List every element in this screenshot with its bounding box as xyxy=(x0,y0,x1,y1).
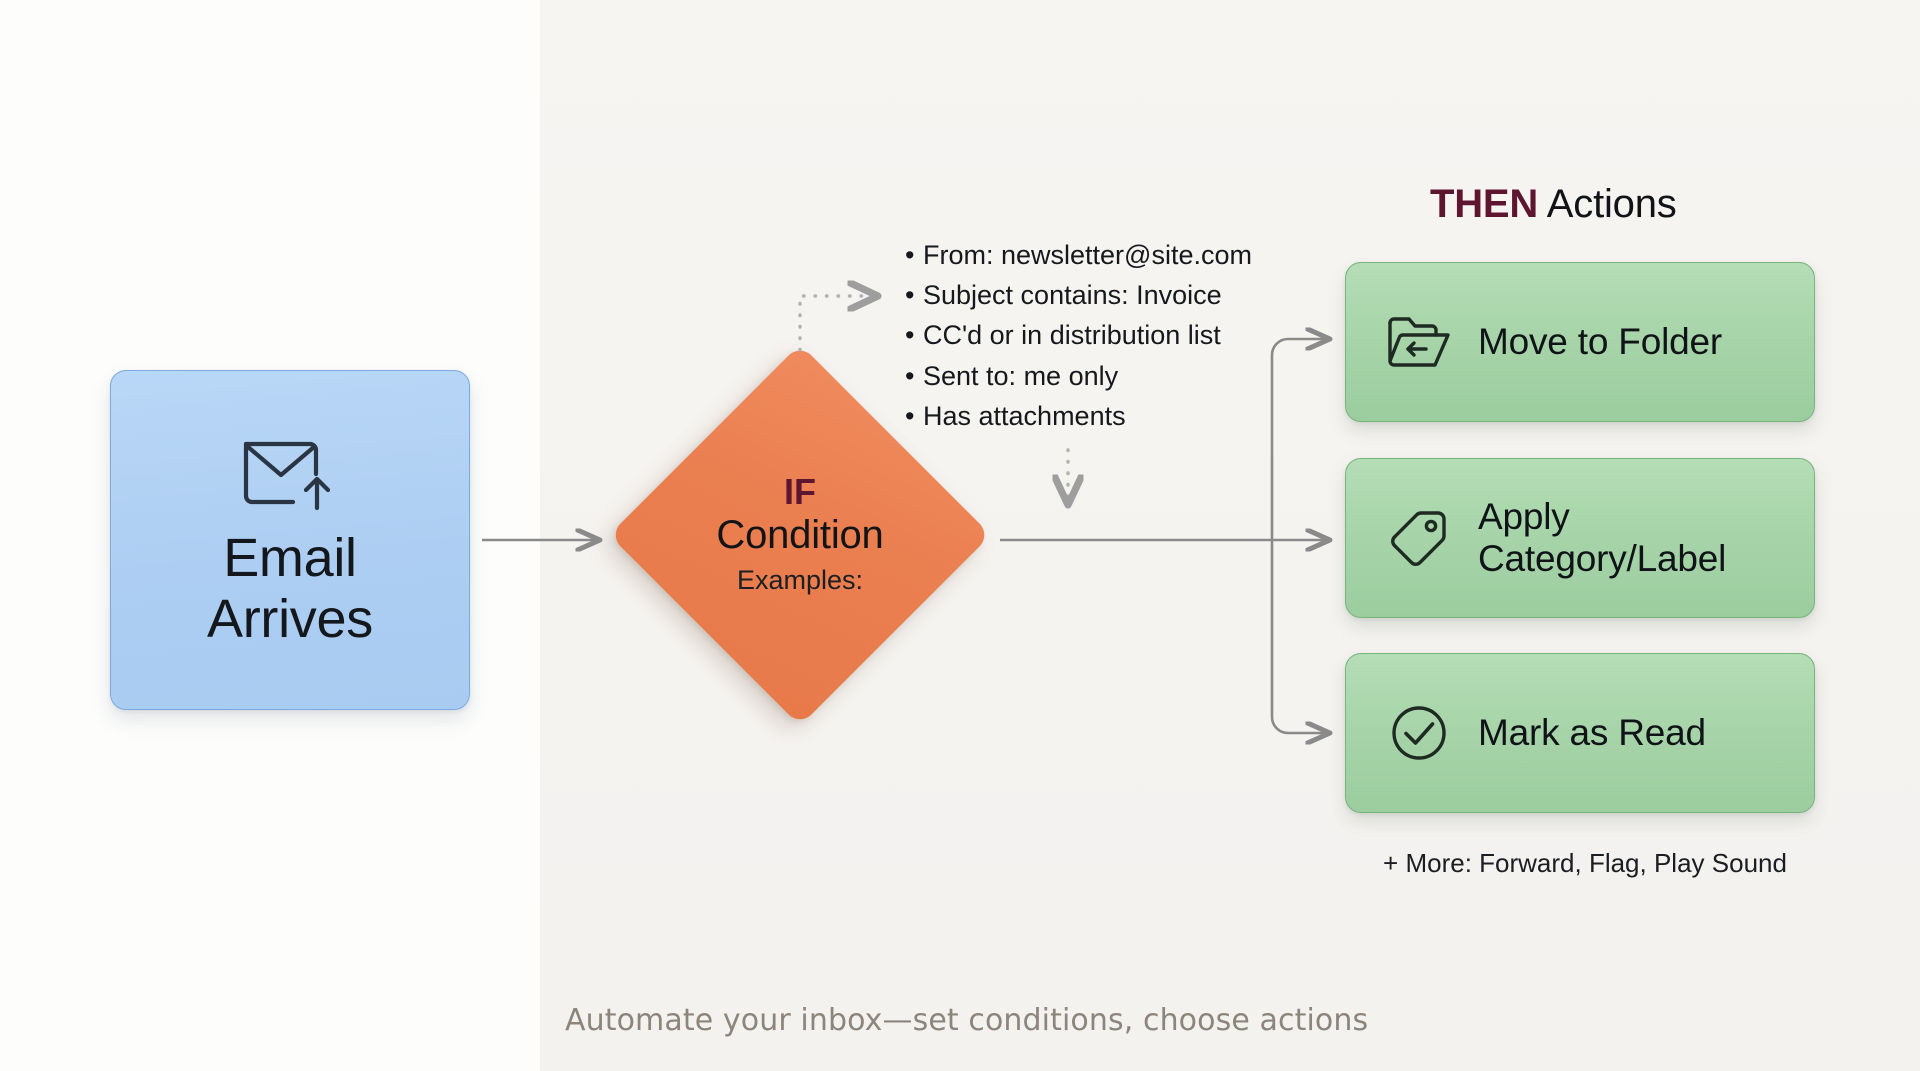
folder-move-icon xyxy=(1386,311,1452,373)
more-actions-note: + More: Forward, Flag, Play Sound xyxy=(1350,848,1820,879)
bullet-icon: • xyxy=(905,280,923,310)
condition-example-text: Sent to: me only xyxy=(923,361,1118,391)
diagram-canvas: Email Arrives IF Condition Examples: •Fr… xyxy=(0,0,1920,1071)
condition-example-text: Has attachments xyxy=(923,401,1126,431)
action-label: Move to Folder xyxy=(1478,321,1722,363)
bullet-icon: • xyxy=(905,320,923,350)
action-card-mark-as-read[interactable]: Mark as Read xyxy=(1345,653,1815,813)
action-label-line1: Mark as Read xyxy=(1478,712,1706,754)
trigger-title-line1: Email xyxy=(207,528,373,589)
action-label: Apply Category/Label xyxy=(1478,496,1726,580)
condition-examples-list: •From: newsletter@site.com •Subject cont… xyxy=(905,240,1325,441)
condition-example-text: Subject contains: Invoice xyxy=(923,280,1222,310)
action-label: Mark as Read xyxy=(1478,712,1706,754)
list-item: •Subject contains: Invoice xyxy=(905,280,1325,310)
action-label-line2: Category/Label xyxy=(1478,538,1726,580)
then-keyword: THEN xyxy=(1430,182,1538,226)
tag-label-icon xyxy=(1386,507,1452,569)
list-item: •CC'd or in distribution list xyxy=(905,320,1325,350)
condition-title: Condition xyxy=(716,512,883,559)
trigger-title: Email Arrives xyxy=(207,528,373,650)
action-label-line1: Move to Folder xyxy=(1478,321,1722,363)
trigger-card-email-arrives[interactable]: Email Arrives xyxy=(110,370,470,710)
trigger-title-line2: Arrives xyxy=(207,589,373,650)
action-label-line1: Apply xyxy=(1478,496,1726,538)
check-circle-icon xyxy=(1386,702,1452,764)
bullet-icon: • xyxy=(905,401,923,431)
condition-keyword: IF xyxy=(784,472,816,512)
envelope-arrow-up-icon xyxy=(238,430,342,516)
condition-example-text: CC'd or in distribution list xyxy=(923,320,1221,350)
bullet-icon: • xyxy=(905,240,923,270)
bullet-icon: • xyxy=(905,361,923,391)
list-item: •Has attachments xyxy=(905,401,1325,431)
then-actions-rest: Actions xyxy=(1538,182,1676,226)
list-item: •From: newsletter@site.com xyxy=(905,240,1325,270)
list-item: •Sent to: me only xyxy=(905,361,1325,391)
condition-subtitle: Examples: xyxy=(737,563,863,598)
condition-example-text: From: newsletter@site.com xyxy=(923,240,1252,270)
page-title-then-actions: THEN Actions xyxy=(1430,182,1677,227)
footer-caption: Automate your inbox—set conditions, choo… xyxy=(565,1003,1368,1038)
action-card-move-to-folder[interactable]: Move to Folder xyxy=(1345,262,1815,422)
action-card-apply-category-label[interactable]: Apply Category/Label xyxy=(1345,458,1815,618)
